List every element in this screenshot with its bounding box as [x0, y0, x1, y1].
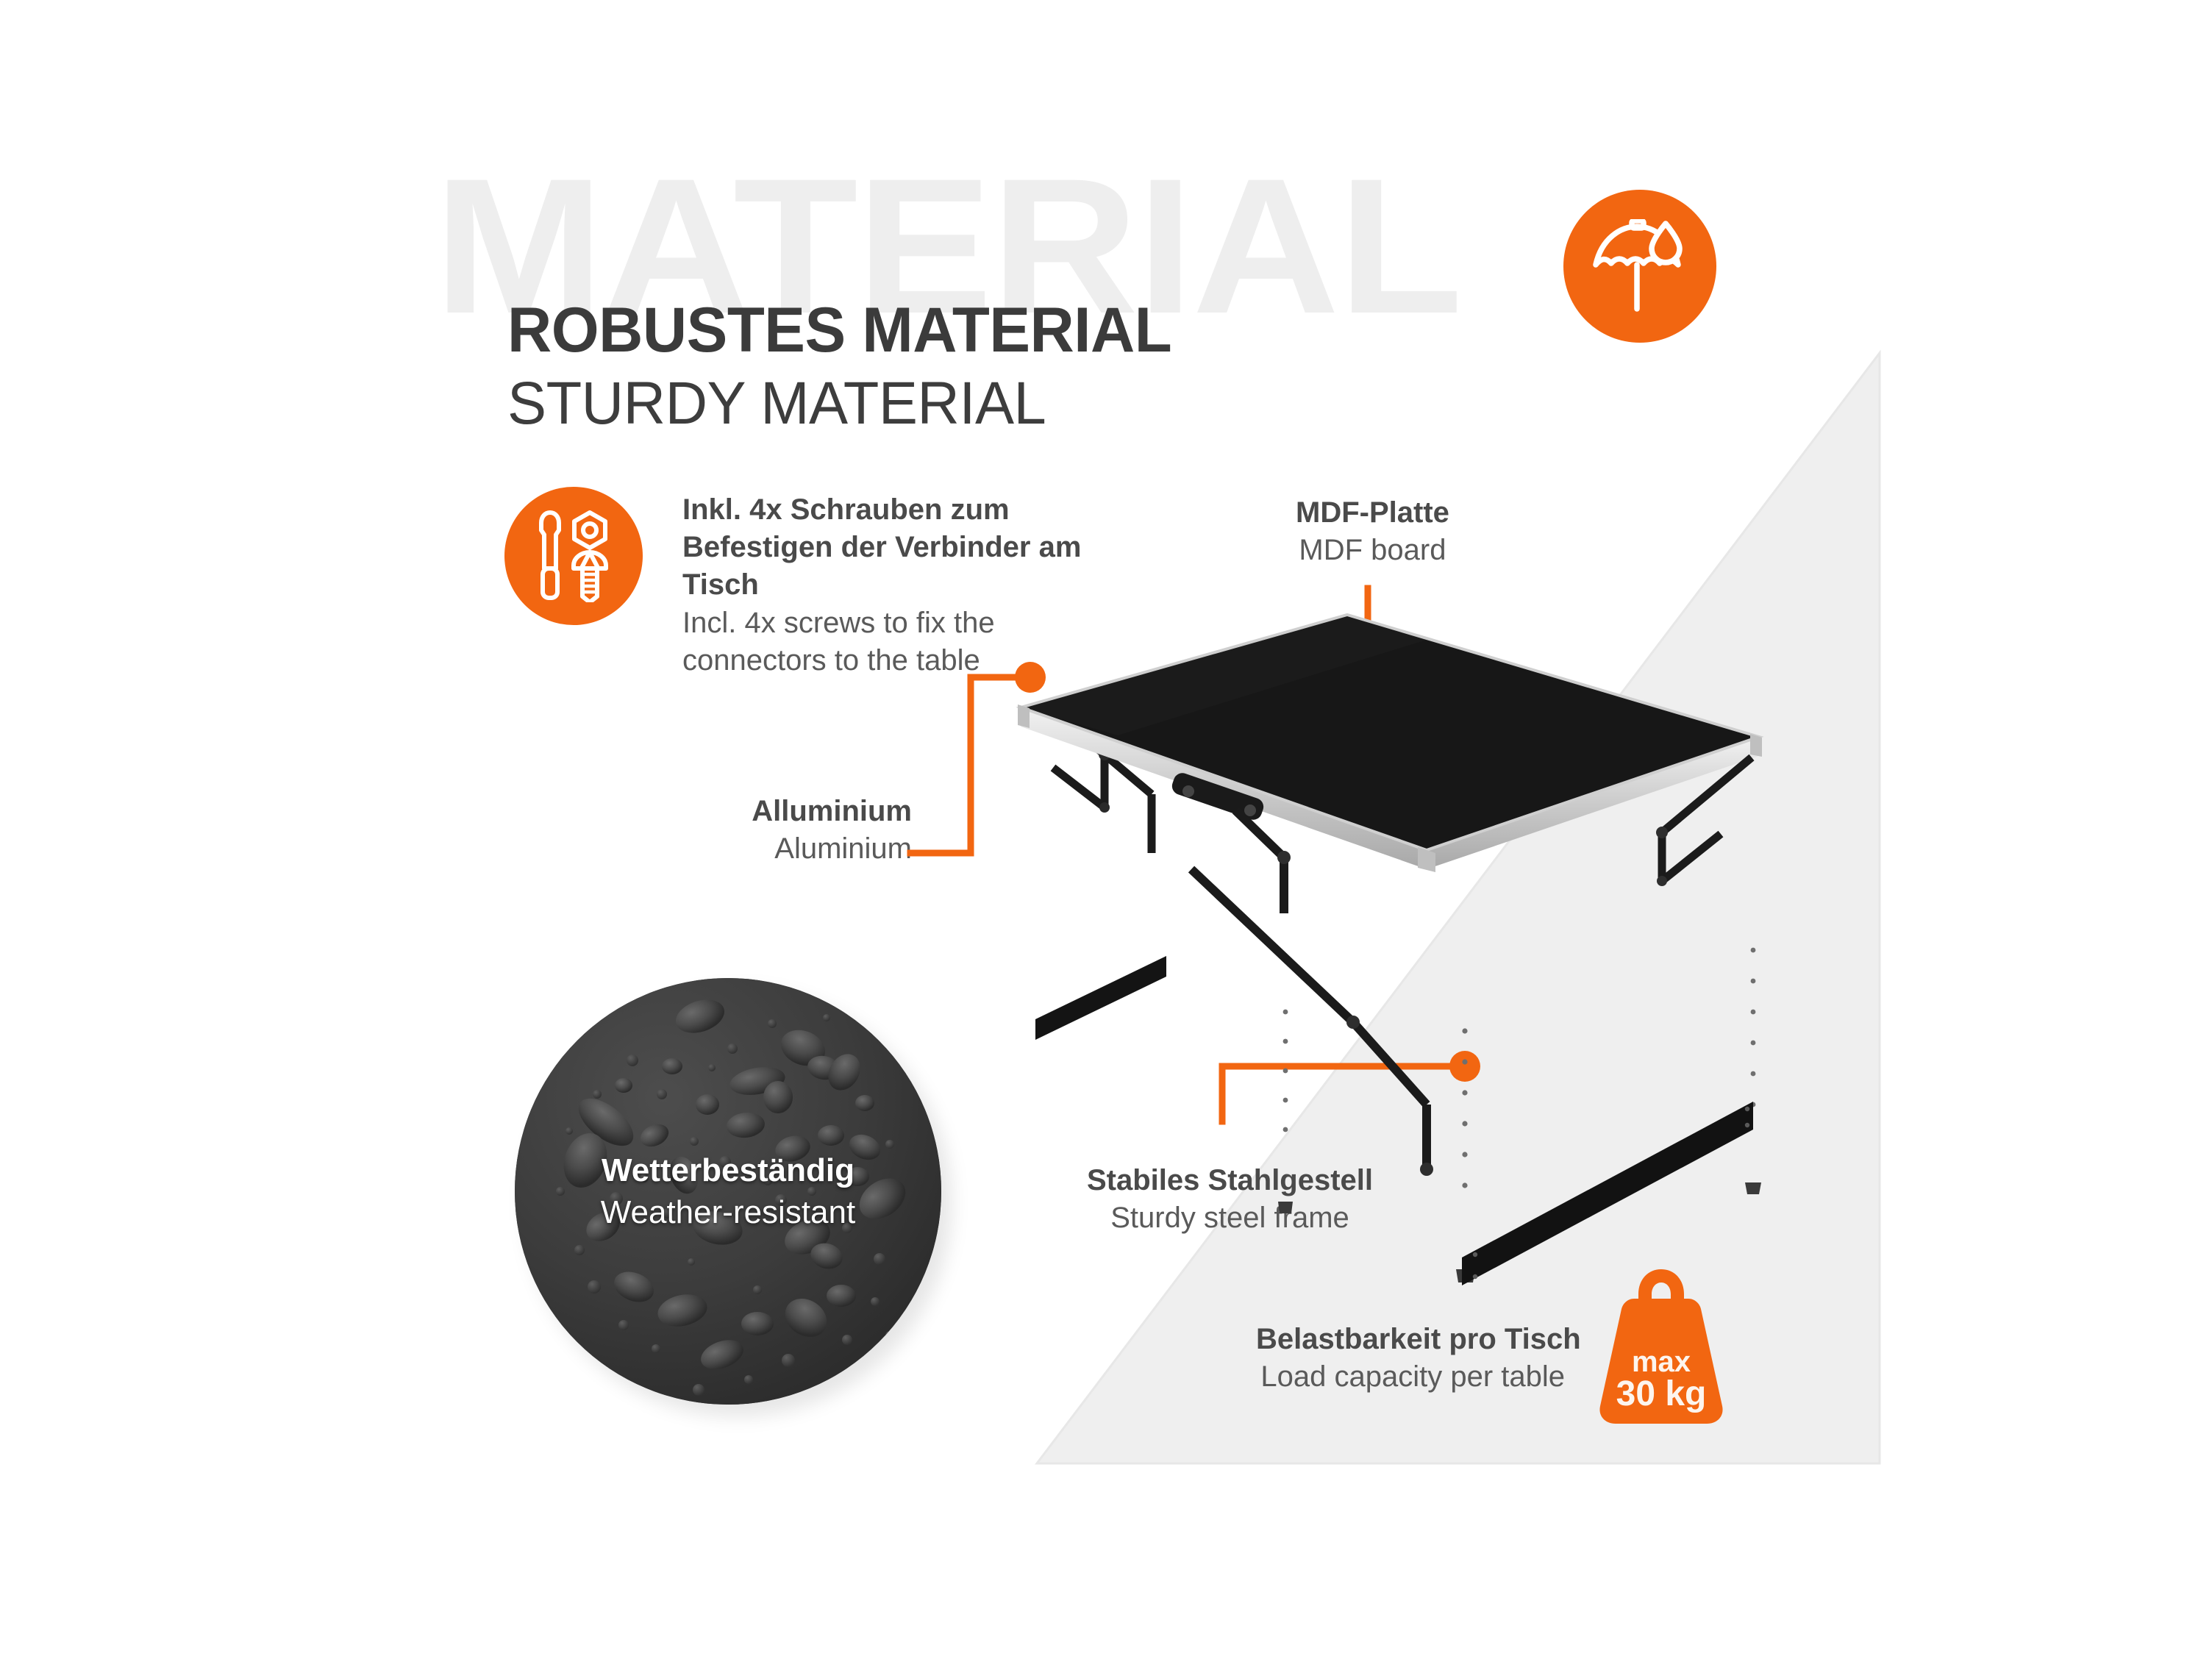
page-title-en: STURDY MATERIAL: [507, 369, 1046, 438]
callout-line-aluminium: [910, 677, 1026, 853]
screws-badge: [504, 487, 643, 625]
feature-mdf-label: MDF-Platte MDF board: [1296, 494, 1449, 569]
feature-weather-de: Wetterbeständig: [515, 1149, 941, 1191]
feature-aluminium-en: Aluminium: [750, 830, 912, 868]
feature-mdf-de: MDF-Platte: [1296, 494, 1449, 532]
feature-aluminium-label: Alluminium Aluminium: [750, 793, 912, 868]
feature-load-de: Belastbarkeit pro Tisch: [1256, 1321, 1565, 1358]
table-front-right-leg: [1456, 869, 1475, 1282]
screwdriver-screw-nut-icon: [531, 510, 616, 602]
weather-resistant-caption: Wetterbeständig Weather-resistant: [515, 1149, 941, 1233]
product-image-folding-table: [1015, 610, 1794, 1287]
feature-load-label: Belastbarkeit pro Tisch Load capacity pe…: [1256, 1321, 1565, 1396]
weather-badge: [1563, 190, 1716, 343]
infographic-canvas: MATERIAL ROBUSTES MATERIAL STURDY MATERI…: [0, 0, 2212, 1659]
table-top: [1018, 615, 1762, 872]
table-foot-bar: [1462, 1102, 1753, 1285]
feature-load-en: Load capacity per table: [1256, 1358, 1565, 1396]
feature-aluminium-de: Alluminium: [750, 793, 912, 830]
page-title-de: ROBUSTES MATERIAL: [507, 294, 1171, 367]
weather-resistant-circle: Wetterbeständig Weather-resistant: [515, 978, 941, 1405]
feature-mdf-en: MDF board: [1296, 532, 1449, 569]
feature-weather-en: Weather-resistant: [515, 1191, 941, 1233]
feature-screws-de: Inkl. 4x Schrauben zum Befestigen der Ve…: [682, 491, 1109, 604]
umbrella-raindrop-icon: [1591, 219, 1688, 313]
table-x-brace: [1191, 810, 1427, 1169]
